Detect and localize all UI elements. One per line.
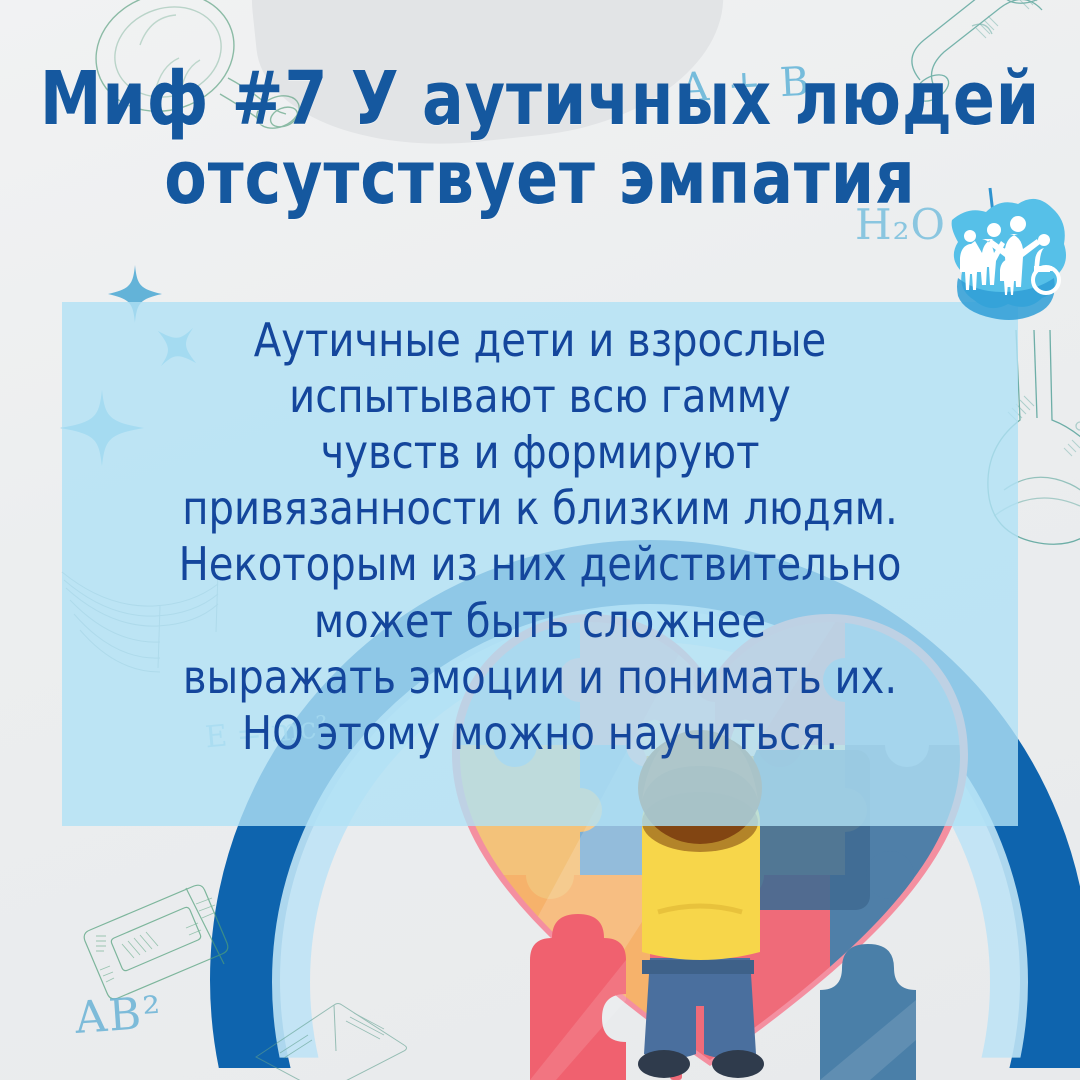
body-line-6: может быть сложнее — [76, 593, 1003, 649]
body-line-8: НО этому можно научиться. — [76, 705, 1003, 761]
formula-ab-squared: AB² — [73, 987, 164, 1044]
poster-canvas: A + B H₂O AB² E = mc² — [0, 0, 1080, 1080]
body-line-7: выражать эмоции и понимать их. — [76, 649, 1003, 705]
body-line-2: испытывают всю гамму — [76, 368, 1003, 424]
title-line-1: Миф #7 У аутичных людей — [38, 58, 1042, 141]
body-text: Аутичные дети и взрослые испытывают всю … — [76, 312, 1003, 761]
puzzle-piece-red — [530, 914, 626, 1080]
title-line-2: отсутствует эмпатия — [38, 137, 1042, 220]
body-line-3: чувств и формируют — [76, 424, 1003, 480]
page-title: Миф #7 У аутичных людей отсутствует эмпа… — [38, 58, 1042, 220]
body-line-5: Некоторым из них действительно — [76, 536, 1003, 592]
body-line-1: Аутичные дети и взрослые — [76, 312, 1003, 368]
body-line-4: привязанности к близким людям. — [76, 480, 1003, 536]
regional-inclusion-logo[interactable] — [946, 186, 1074, 326]
